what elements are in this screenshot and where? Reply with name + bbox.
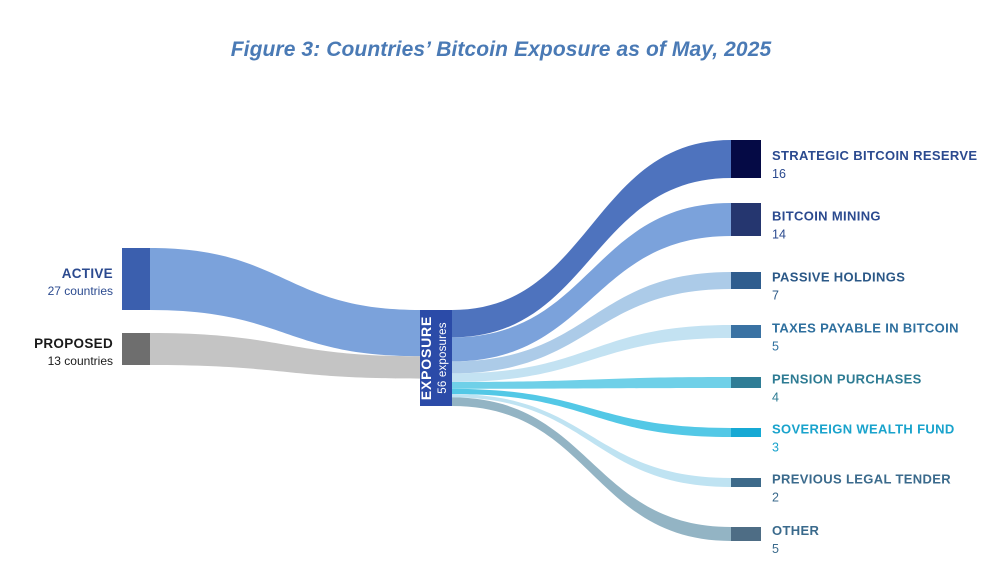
sankey-node-taxes[interactable] <box>731 325 761 338</box>
sankey-link-exposure-to-swf <box>452 389 731 437</box>
target-label-name-swf: SOVEREIGN WEALTH FUND <box>772 422 955 437</box>
target-label-value-legal: 2 <box>772 491 779 505</box>
target-label-name-mining: BITCOIN MINING <box>772 209 881 224</box>
target-label-value-sbr: 16 <box>772 167 786 181</box>
sankey-node-active[interactable] <box>122 248 150 310</box>
source-label-name-proposed: PROPOSED <box>34 336 113 351</box>
target-label-value-pension: 4 <box>772 391 779 405</box>
sankey-diagram: ACTIVE27 countriesPROPOSED13 countriesEX… <box>0 0 1002 582</box>
target-label-value-other: 5 <box>772 542 779 556</box>
target-label-name-passive: PASSIVE HOLDINGS <box>772 270 905 285</box>
target-label-name-legal: PREVIOUS LEGAL TENDER <box>772 472 951 487</box>
target-label-value-swf: 3 <box>772 441 779 455</box>
target-label-name-sbr: STRATEGIC BITCOIN RESERVE <box>772 148 977 163</box>
sankey-node-pension[interactable] <box>731 377 761 388</box>
target-label-name-taxes: TAXES PAYABLE IN BITCOIN <box>772 321 959 336</box>
source-label-sub-proposed: 13 countries <box>48 354 113 368</box>
center-node-label: EXPOSURE <box>418 316 434 400</box>
sankey-node-legal[interactable] <box>731 478 761 487</box>
sankey-link-exposure-to-other <box>452 397 731 541</box>
sankey-node-passive[interactable] <box>731 272 761 289</box>
source-label-name-active: ACTIVE <box>62 266 113 281</box>
target-label-value-taxes: 5 <box>772 340 779 354</box>
sankey-node-proposed[interactable] <box>122 333 150 365</box>
sankey-figure: Figure 3: Countries’ Bitcoin Exposure as… <box>0 0 1002 582</box>
sankey-node-swf[interactable] <box>731 428 761 437</box>
target-label-name-pension: PENSION PURCHASES <box>772 372 922 387</box>
target-label-value-passive: 7 <box>772 289 779 303</box>
target-label-value-mining: 14 <box>772 228 786 242</box>
sankey-node-sbr[interactable] <box>731 140 761 178</box>
sankey-node-mining[interactable] <box>731 203 761 236</box>
sankey-node-other[interactable] <box>731 527 761 541</box>
center-node-sublabel: 56 exposures <box>437 322 449 393</box>
target-label-name-other: OTHER <box>772 523 820 538</box>
source-label-sub-active: 27 countries <box>48 284 113 298</box>
